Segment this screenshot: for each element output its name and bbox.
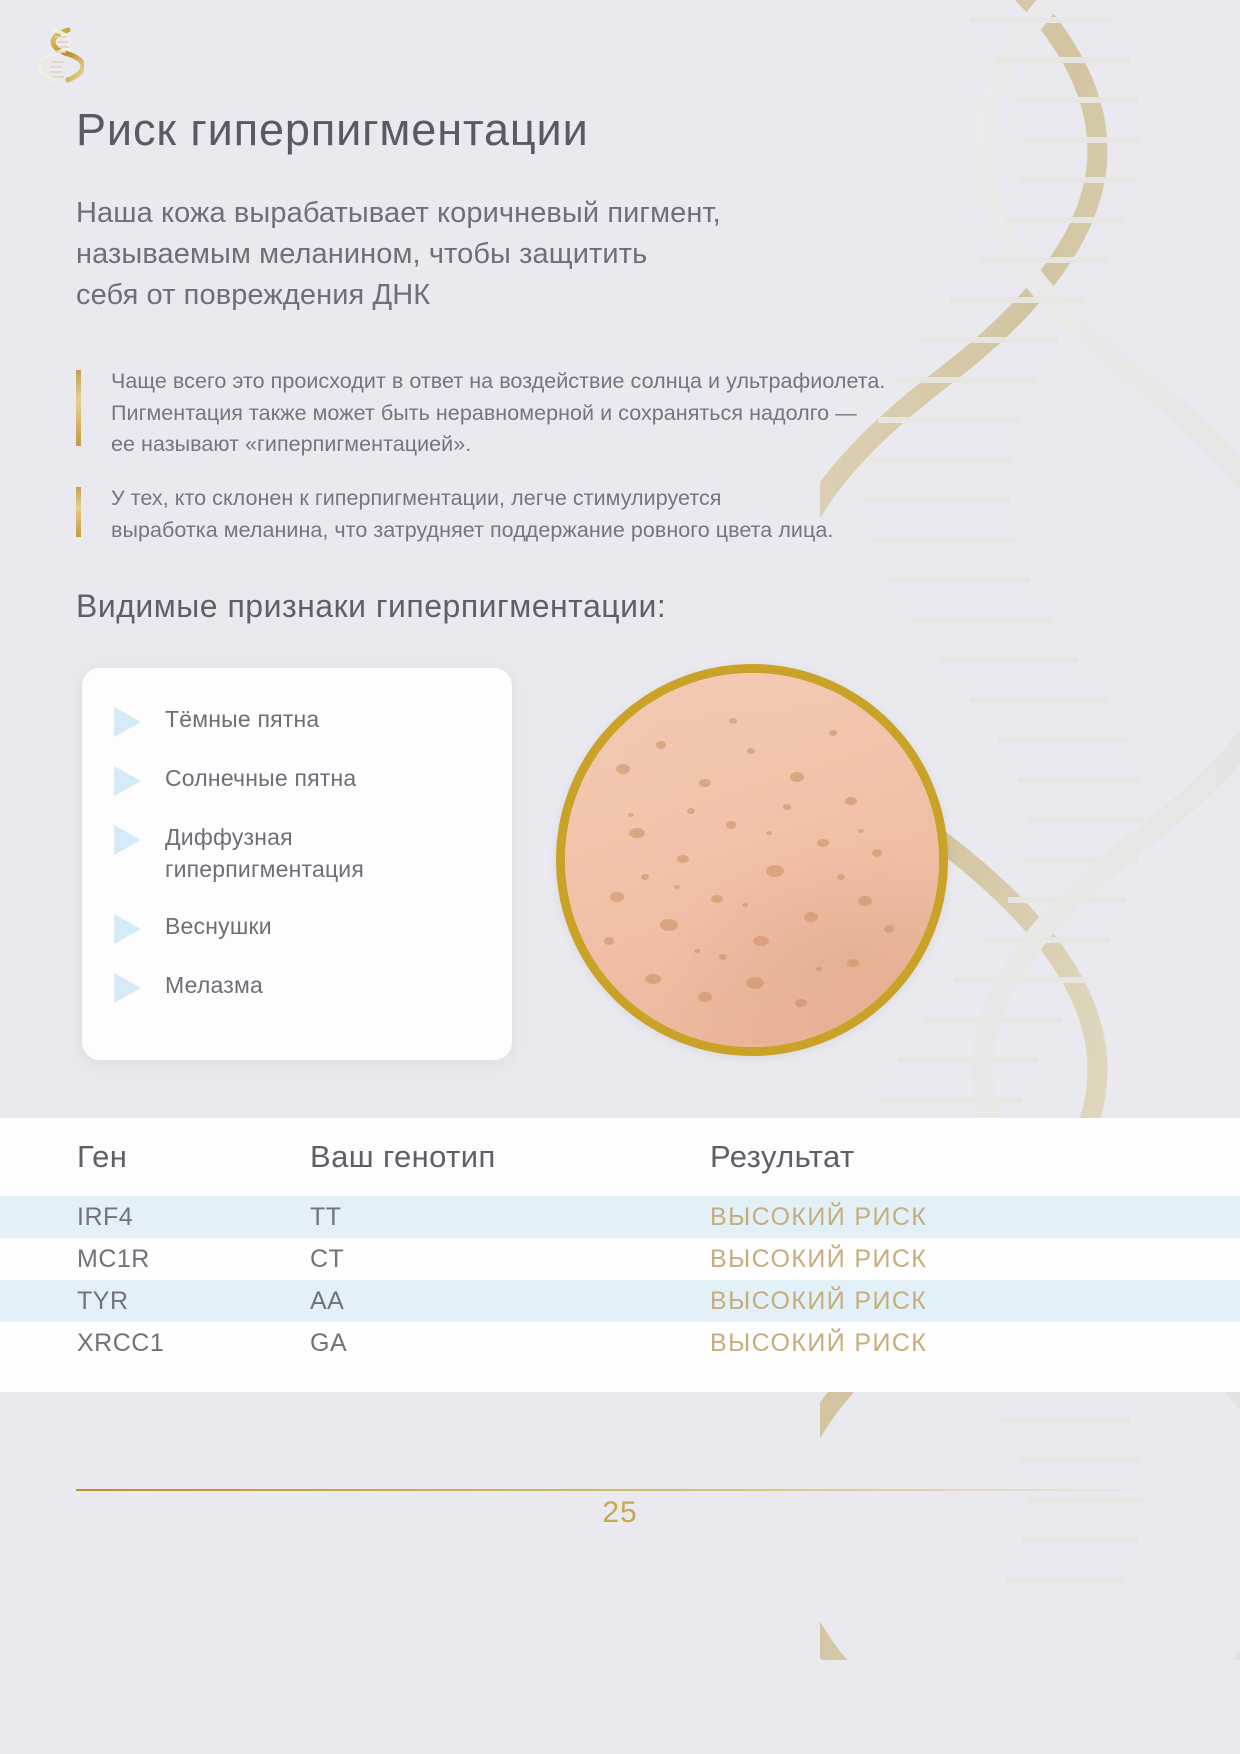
quote-block-1: Чаще всего это происходит в ответ на воз… [76, 366, 885, 446]
table-row: XRCC1 GA ВЫСОКИЙ РИСК [0, 1322, 1240, 1364]
list-item: Солнечные пятна [82, 763, 512, 796]
intro-paragraph: Наша кожа вырабатывает коричневый пигмен… [76, 193, 956, 317]
quote-block-2: У тех, кто склонен к гиперпигментации, л… [76, 483, 833, 537]
table-row: TYR AA ВЫСОКИЙ РИСК [0, 1280, 1240, 1322]
footer-divider [76, 1489, 1166, 1491]
triangle-bullet-icon [114, 825, 141, 855]
table-row: IRF4 TT ВЫСОКИЙ РИСК [0, 1196, 1240, 1238]
column-header-gene: Ген [0, 1139, 310, 1175]
intro-line-3: себя от повреждения ДНК [76, 275, 956, 316]
cell-result: ВЫСОКИЙ РИСК [710, 1245, 1240, 1274]
quote-2-line-2: выработка меланина, что затрудняет подде… [111, 515, 833, 547]
sign-label: Тёмные пятна [165, 704, 319, 736]
table-bottom-spacer [0, 1364, 1240, 1392]
cell-gene: MC1R [0, 1245, 310, 1274]
page-number: 25 [0, 1496, 1240, 1530]
cell-gene: IRF4 [0, 1203, 310, 1232]
quote-text-2: У тех, кто склонен к гиперпигментации, л… [111, 483, 833, 537]
table-header-row: Ген Ваш генотип Результат [0, 1118, 1240, 1196]
triangle-bullet-icon [114, 707, 141, 737]
report-page: Риск гиперпигментации Наша кожа вырабаты… [0, 0, 1240, 1754]
column-header-result: Результат [710, 1139, 1240, 1175]
cell-result: ВЫСОКИЙ РИСК [710, 1287, 1240, 1316]
sign-label: Солнечные пятна [165, 763, 356, 795]
quote-1-line-3: ее называют «гиперпигментацией». [111, 429, 885, 461]
cell-genotype: CT [310, 1245, 710, 1274]
gold-accent-bar [76, 370, 81, 446]
cell-genotype: TT [310, 1203, 710, 1232]
column-header-genotype: Ваш генотип [310, 1139, 710, 1175]
triangle-bullet-icon [114, 914, 141, 944]
skin-spots-overlay [565, 673, 939, 1047]
visible-signs-card: Тёмные пятна Солнечные пятна Диффузная г… [82, 668, 512, 1060]
cell-genotype: GA [310, 1329, 710, 1358]
cell-gene: TYR [0, 1287, 310, 1316]
sign-label: Диффузная гиперпигментация [165, 822, 415, 885]
quote-1-line-2: Пигментация также может быть неравномерн… [111, 398, 885, 430]
signs-section-heading: Видимые признаки гиперпигментации: [76, 588, 666, 625]
list-item: Диффузная гиперпигментация [82, 822, 512, 885]
quote-1-line-1: Чаще всего это происходит в ответ на воз… [111, 366, 885, 398]
list-item: Мелазма [82, 970, 512, 1003]
cell-result: ВЫСОКИЙ РИСК [710, 1203, 1240, 1232]
genotype-results-table: Ген Ваш генотип Результат IRF4 TT ВЫСОКИ… [0, 1118, 1240, 1392]
cell-genotype: AA [310, 1287, 710, 1316]
list-item: Веснушки [82, 911, 512, 944]
sign-label: Мелазма [165, 970, 263, 1002]
quote-2-line-1: У тех, кто склонен к гиперпигментации, л… [111, 483, 833, 515]
intro-line-2: называемым меланином, чтобы защитить [76, 234, 956, 275]
quote-text-1: Чаще всего это происходит в ответ на воз… [111, 366, 885, 446]
triangle-bullet-icon [114, 973, 141, 1003]
triangle-bullet-icon [114, 766, 141, 796]
cell-result: ВЫСОКИЙ РИСК [710, 1329, 1240, 1358]
table-row: MC1R CT ВЫСОКИЙ РИСК [0, 1238, 1240, 1280]
page-title: Риск гиперпигментации [76, 104, 589, 156]
cell-gene: XRCC1 [0, 1329, 310, 1358]
list-item: Тёмные пятна [82, 704, 512, 737]
sign-label: Веснушки [165, 911, 272, 943]
skin-hyperpigmentation-photo [556, 664, 948, 1056]
dna-helix-icon [38, 26, 84, 88]
gold-accent-bar [76, 487, 81, 537]
intro-line-1: Наша кожа вырабатывает коричневый пигмен… [76, 193, 956, 234]
